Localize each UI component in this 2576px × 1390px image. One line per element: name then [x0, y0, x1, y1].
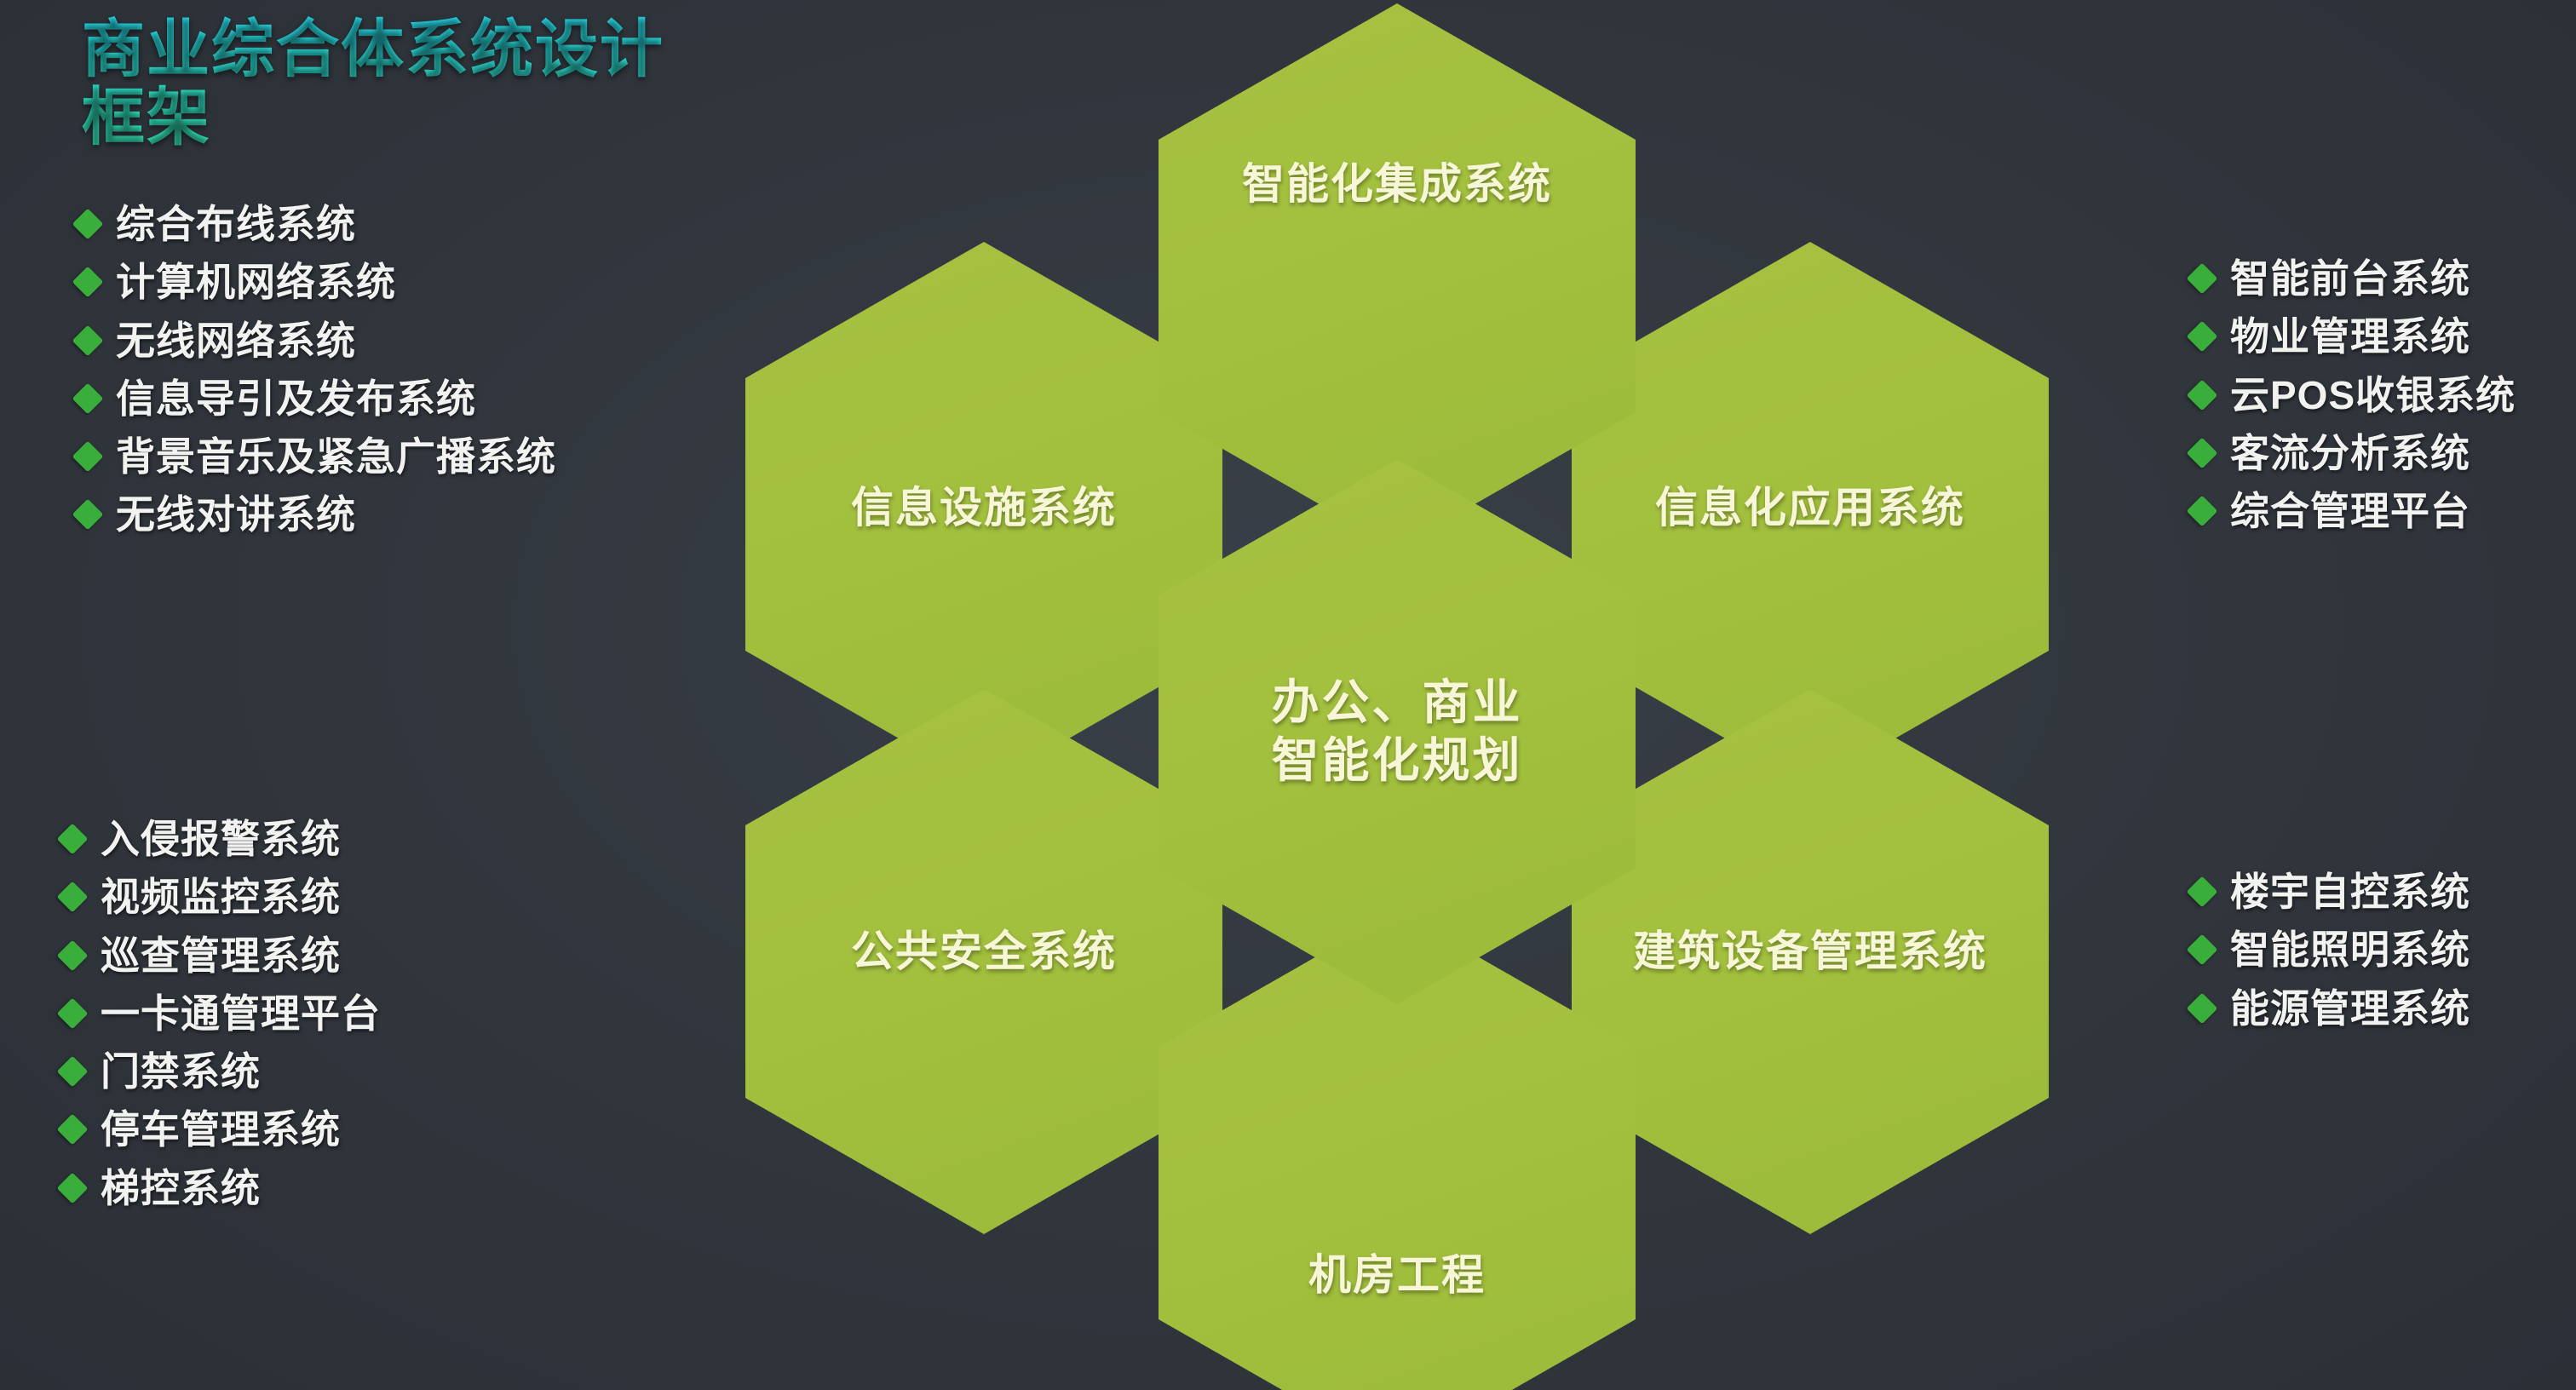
list-item-label: 计算机网络系统: [116, 259, 396, 305]
list-top-left: 综合布线系统 计算机网络系统 无线网络系统 信息导引及发布系统 背景音乐及紧急广…: [77, 201, 556, 550]
hex-building-equipment-management-system[interactable]: 建筑设备管理系统: [1572, 689, 2049, 1234]
hex-label: 机房工程: [1286, 1249, 1508, 1301]
honeycomb-diagram: 信息设施系统 信息化应用系统 公共安全系统 建筑设备管理系统 智能化集成系统 机…: [733, 0, 2061, 1390]
diamond-bullet-icon: [2187, 263, 2218, 295]
list-item[interactable]: 无线网络系统: [77, 318, 556, 364]
list-item[interactable]: 入侵报警系统: [61, 816, 381, 862]
list-item-label: 视频监控系统: [101, 874, 341, 920]
list-item-label: 智能前台系统: [2230, 256, 2470, 302]
list-item[interactable]: 云POS收银系统: [2191, 372, 2516, 418]
page-title: 商业综合体系统设计 框架: [82, 15, 729, 152]
list-item-label: 能源管理系统: [2230, 985, 2470, 1031]
list-item-label: 楼宇自控系统: [2230, 869, 2470, 915]
list-item-label: 背景音乐及紧急广播系统: [116, 434, 556, 480]
list-item-label: 信息导引及发布系统: [116, 376, 476, 422]
hex-label: 信息化应用系统: [1633, 482, 1987, 534]
list-item[interactable]: 智能前台系统: [2191, 256, 2516, 302]
diamond-bullet-icon: [72, 267, 104, 298]
list-item[interactable]: 计算机网络系统: [77, 259, 556, 305]
list-item[interactable]: 一卡通管理平台: [61, 991, 381, 1037]
hex-label: 信息设施系统: [829, 482, 1139, 534]
list-item[interactable]: 梯控系统: [61, 1165, 381, 1211]
diamond-bullet-icon: [72, 383, 104, 415]
list-item[interactable]: 视频监控系统: [61, 874, 381, 920]
diamond-bullet-icon: [72, 209, 104, 240]
hex-label: 办公、商业 智能化规划: [1250, 674, 1545, 790]
list-item[interactable]: 综合管理平台: [2191, 488, 2516, 534]
diamond-bullet-icon: [2187, 496, 2218, 527]
hex-public-security-system[interactable]: 公共安全系统: [745, 689, 1222, 1234]
list-item-label: 入侵报警系统: [101, 816, 341, 862]
list-item-label: 梯控系统: [101, 1165, 261, 1211]
list-item[interactable]: 楼宇自控系统: [2191, 869, 2470, 915]
list-item[interactable]: 无线对讲系统: [77, 491, 556, 537]
list-item-label: 门禁系统: [101, 1048, 261, 1094]
diamond-bullet-icon: [57, 1114, 89, 1146]
list-bottom-left: 入侵报警系统 视频监控系统 巡查管理系统 一卡通管理平台 门禁系统 停车管理系统…: [61, 816, 381, 1223]
diamond-bullet-icon: [2187, 379, 2218, 411]
hex-label: 建筑设备管理系统: [1611, 926, 2010, 978]
list-item[interactable]: 客流分析系统: [2191, 430, 2516, 476]
list-item[interactable]: 巡查管理系统: [61, 933, 381, 979]
diamond-bullet-icon: [57, 1056, 89, 1088]
list-item[interactable]: 智能照明系统: [2191, 927, 2470, 973]
list-item[interactable]: 能源管理系统: [2191, 985, 2470, 1031]
list-item[interactable]: 物业管理系统: [2191, 313, 2516, 359]
list-item-label: 物业管理系统: [2230, 313, 2470, 359]
diamond-bullet-icon: [57, 824, 89, 855]
list-item[interactable]: 背景音乐及紧急广播系统: [77, 434, 556, 480]
list-item[interactable]: 停车管理系统: [61, 1106, 381, 1152]
diamond-bullet-icon: [2187, 992, 2218, 1024]
list-item[interactable]: 综合布线系统: [77, 201, 556, 247]
diamond-bullet-icon: [2187, 321, 2218, 353]
diamond-bullet-icon: [57, 1172, 89, 1203]
list-item[interactable]: 信息导引及发布系统: [77, 376, 556, 422]
diamond-bullet-icon: [57, 882, 89, 913]
diamond-bullet-icon: [72, 325, 104, 356]
list-item[interactable]: 门禁系统: [61, 1048, 381, 1094]
list-item-label: 巡查管理系统: [101, 933, 341, 979]
list-item-label: 客流分析系统: [2230, 430, 2470, 476]
hex-label: 智能化集成系统: [1220, 158, 1574, 210]
list-item-label: 云POS收银系统: [2230, 372, 2516, 418]
list-item-label: 综合管理平台: [2230, 488, 2470, 534]
list-item-label: 智能照明系统: [2230, 927, 2470, 973]
list-item-label: 一卡通管理平台: [101, 991, 381, 1037]
list-item-label: 停车管理系统: [101, 1106, 341, 1152]
list-top-right: 智能前台系统 物业管理系统 云POS收银系统 客流分析系统 综合管理平台: [2191, 256, 2516, 546]
diamond-bullet-icon: [57, 939, 89, 971]
diamond-bullet-icon: [72, 441, 104, 473]
diamond-bullet-icon: [72, 499, 104, 531]
diamond-bullet-icon: [2187, 934, 2218, 966]
slide-canvas: 商业综合体系统设计 框架 商业综合体系统设计 框架 综合布线系统 计算机网络系统…: [0, 0, 2576, 1390]
list-item-label: 综合布线系统: [116, 201, 356, 247]
list-item-label: 无线对讲系统: [116, 491, 356, 537]
diamond-bullet-icon: [57, 998, 89, 1030]
list-item-label: 无线网络系统: [116, 318, 356, 364]
hex-label: 公共安全系统: [829, 926, 1139, 978]
list-bottom-right: 楼宇自控系统 智能照明系统 能源管理系统: [2191, 869, 2470, 1043]
hex-center-office-commercial-plan[interactable]: 办公、商业 智能化规划: [1159, 459, 1636, 1004]
diamond-bullet-icon: [2187, 438, 2218, 469]
diamond-bullet-icon: [2187, 876, 2218, 908]
